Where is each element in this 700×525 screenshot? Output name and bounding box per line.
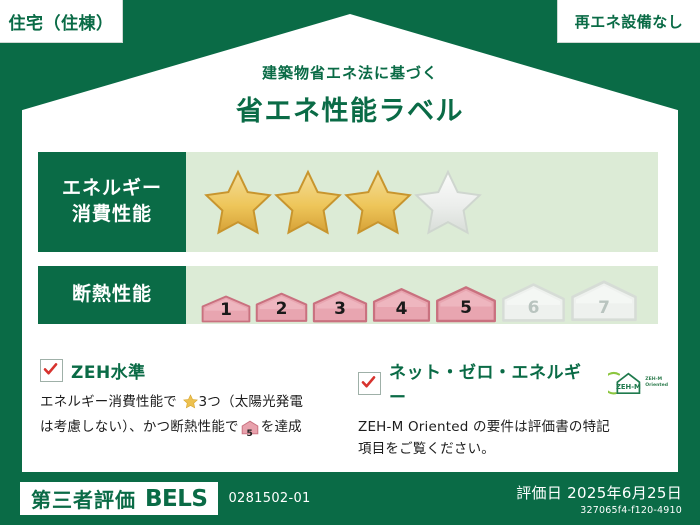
insulation-grade-scale: 1234567 xyxy=(186,266,658,324)
insulation-grade-value: 2 xyxy=(254,299,309,319)
page-title: 省エネ性能ラベル xyxy=(0,89,700,128)
zeh-m-caption-line2: Oriented xyxy=(645,383,668,388)
label-subtitle: 建築物省エネ法に基づく xyxy=(0,62,700,83)
renewable-equipment-tag: 再エネ設備なし xyxy=(557,0,700,43)
zeh-desc-part2: は考慮しない）、かつ断熱性能で xyxy=(40,419,239,435)
inline-grade-badge: 5 xyxy=(241,420,259,443)
nze-title: ネット・ゼロ・エネルギー xyxy=(389,358,594,408)
energy-label-line2: 消費性能 xyxy=(72,202,152,228)
insulation-grade-value: 1 xyxy=(200,300,252,320)
insulation-performance-label: 断熱性能 xyxy=(38,266,186,324)
zeh-m-logo-text: ZEH-M xyxy=(616,383,641,391)
zeh-desc-stars: 3つ（太陽光発電 xyxy=(199,394,304,410)
bels-certificate-number: 0281502-01 xyxy=(228,491,310,506)
zeh-description: エネルギー消費性能で 3つ（太陽光発電 は考慮しない）、かつ断熱性能で 5 を達… xyxy=(40,392,330,443)
energy-performance-row: エネルギー 消費性能 xyxy=(38,152,658,252)
insulation-performance-row: 断熱性能 1234567 xyxy=(38,266,658,324)
nze-description: ZEH-M Oriented の要件は評価書の特記 項目をご覧ください。 xyxy=(358,417,668,461)
insulation-grade-2: 2 xyxy=(254,291,309,324)
insulation-grade-7: 7 xyxy=(569,278,639,324)
zeh-desc-part3: を達成 xyxy=(261,419,302,435)
insulation-grade-value: 5 xyxy=(434,298,498,318)
insulation-grade-value: 7 xyxy=(569,298,639,318)
insulation-grade-value: 3 xyxy=(311,299,369,319)
zeh-desc-part1: エネルギー消費性能で xyxy=(40,394,177,410)
insulation-grade-value: 6 xyxy=(500,298,567,318)
zeh-m-logo: ZEH-M ZEH-M Oriented xyxy=(608,370,668,396)
nze-check-head: ネット・ゼロ・エネルギー ZEH-M ZEH-M Oriented xyxy=(358,358,668,408)
evaluation-date: 評価日 2025年6月25日 xyxy=(516,482,682,503)
star-filled-icon xyxy=(344,168,412,236)
bels-badge: 第三者評価 BELS xyxy=(20,482,218,515)
zeh-m-caption-line1: ZEH-M xyxy=(645,377,662,382)
building-type-tag: 住宅（住棟） xyxy=(0,0,123,43)
star-filled-icon xyxy=(274,168,342,236)
nze-desc-line2: 項目をご覧ください。 xyxy=(358,441,495,457)
insulation-grade-5: 5 xyxy=(434,284,498,324)
insulation-grade-1: 1 xyxy=(200,294,252,324)
footer-right: 評価日 2025年6月25日 327065f4-f120-4910 xyxy=(516,482,682,516)
zeh-title: ZEH水準 xyxy=(71,358,146,383)
net-zero-energy-block: ネット・ゼロ・エネルギー ZEH-M ZEH-M Oriented ZEH-M … xyxy=(358,358,668,461)
inline-star-icon xyxy=(178,397,198,413)
insulation-grade-4: 4 xyxy=(371,286,432,324)
star-empty-icon xyxy=(414,168,482,236)
document-id: 327065f4-f120-4910 xyxy=(516,505,682,516)
nze-desc-line1: ZEH-M Oriented の要件は評価書の特記 xyxy=(358,419,610,435)
zeh-standard-block: ZEH水準 エネルギー消費性能で 3つ（太陽光発電 は考慮しない）、かつ断熱性能… xyxy=(40,358,330,443)
insulation-grade-3: 3 xyxy=(311,289,369,324)
insulation-grade-value: 4 xyxy=(371,299,432,319)
nze-checkbox[interactable] xyxy=(358,372,381,395)
zeh-m-logo-caption: ZEH-M Oriented xyxy=(645,377,668,388)
energy-label-line1: エネルギー xyxy=(62,176,162,202)
bels-logo-text: BELS xyxy=(145,486,207,512)
title-block: 建築物省エネ法に基づく 省エネ性能ラベル xyxy=(0,62,700,128)
inline-grade-badge-value: 5 xyxy=(241,427,259,442)
star-filled-icon xyxy=(204,168,272,236)
zeh-check-head: ZEH水準 xyxy=(40,358,330,383)
zeh-checkbox[interactable] xyxy=(40,359,63,382)
insulation-grade-6: 6 xyxy=(500,281,567,324)
energy-star-rating xyxy=(186,152,658,252)
footer-bar: 第三者評価 BELS 0281502-01 評価日 2025年6月25日 327… xyxy=(0,472,700,525)
energy-performance-label: エネルギー 消費性能 xyxy=(38,152,186,252)
bels-japanese-label: 第三者評価 xyxy=(31,484,136,513)
